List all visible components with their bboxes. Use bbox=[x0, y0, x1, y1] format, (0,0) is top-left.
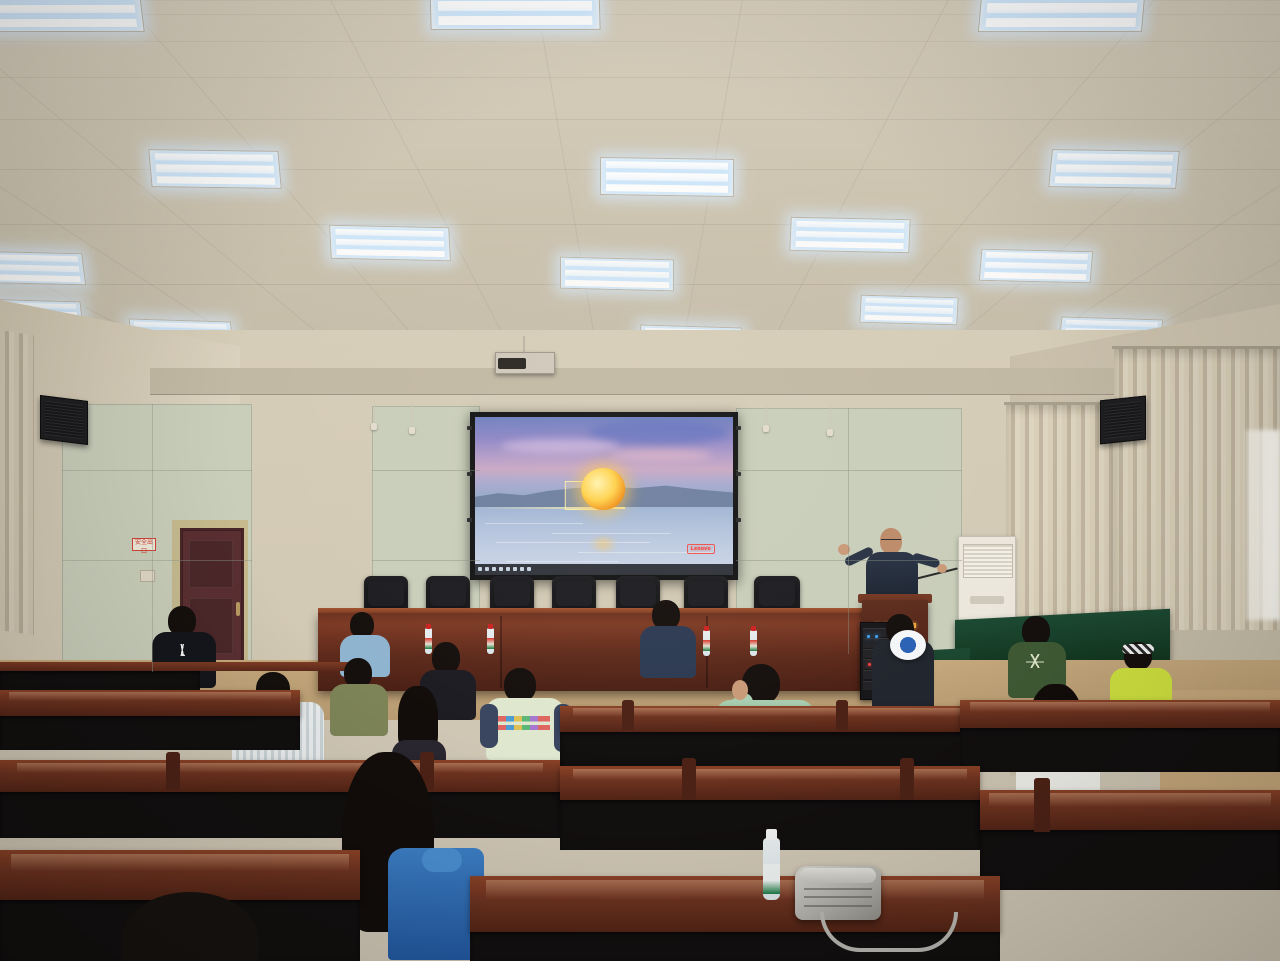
ceiling-light-fixture bbox=[1048, 149, 1180, 189]
tee-graphic-icon bbox=[1026, 654, 1044, 668]
hanging-cable-right bbox=[412, 402, 413, 428]
bench-arm-r4a bbox=[622, 700, 634, 730]
wall-speaker-left bbox=[40, 395, 88, 445]
water-bottle-foreground[interactable] bbox=[763, 838, 780, 900]
ceiling-light-fixture bbox=[979, 249, 1093, 284]
wallpaper-orb bbox=[581, 468, 625, 511]
mint-sleeve-left bbox=[480, 704, 498, 748]
ceiling-light-fixture bbox=[600, 157, 734, 197]
bench-seat-row5 bbox=[960, 728, 1280, 772]
ceiling-light-fixture bbox=[329, 225, 451, 261]
bench-seat-row8-right bbox=[980, 830, 1280, 890]
wall-panel-seam bbox=[372, 470, 480, 471]
lenovo-watermark: Lenovo bbox=[687, 544, 715, 554]
window-daylight bbox=[1246, 430, 1280, 620]
hanging-spot-far2 bbox=[827, 429, 833, 436]
presenter-torso bbox=[866, 552, 918, 598]
ceiling-grid-line bbox=[0, 119, 1280, 120]
hanging-cable-left bbox=[374, 402, 375, 424]
ceiling-light-fixture bbox=[0, 251, 86, 286]
dais-bottle-2 bbox=[487, 628, 494, 654]
projection-screen: Lenovo bbox=[470, 412, 738, 580]
sage-hand bbox=[732, 680, 748, 700]
tee-print-icon bbox=[498, 712, 550, 734]
ceiling-light-fixture bbox=[560, 257, 674, 292]
bench-desk-row7 bbox=[560, 766, 980, 800]
hanging-spot-far bbox=[763, 425, 769, 432]
bench-seat-row4 bbox=[560, 732, 980, 770]
bench-seat-row3 bbox=[0, 716, 300, 750]
dais-bottle-4 bbox=[750, 630, 757, 656]
ceiling-soffit bbox=[150, 368, 1150, 395]
projector-lens-icon bbox=[498, 358, 526, 369]
bench-rail-far bbox=[0, 662, 360, 671]
right-curtain-near bbox=[1006, 404, 1114, 632]
ceiling-light-fixture bbox=[789, 217, 910, 253]
hanging-cable-far2 bbox=[830, 404, 831, 430]
dais-bottle-1 bbox=[425, 628, 432, 654]
door-handle-icon[interactable] bbox=[236, 602, 240, 616]
ceiling-light-fixture bbox=[0, 0, 145, 32]
dais-bottle-3 bbox=[703, 630, 710, 656]
bench-arm-r7a bbox=[682, 758, 696, 800]
bench-desk-row8-right bbox=[980, 790, 1280, 830]
bench-arm-r4b bbox=[836, 700, 848, 730]
left-window-curtain bbox=[0, 330, 34, 635]
bench-arm-r7b bbox=[900, 758, 914, 800]
bench-arm-r8 bbox=[1034, 778, 1050, 832]
backpack-strap bbox=[820, 912, 958, 952]
wall-speaker-right bbox=[1100, 396, 1146, 445]
presenter-glasses-icon bbox=[881, 539, 901, 544]
hanging-spot-right bbox=[409, 427, 415, 434]
bench-desk-row5 bbox=[960, 700, 1280, 728]
wall-panel-seam bbox=[848, 408, 849, 654]
headband bbox=[1122, 644, 1154, 654]
wall-panel-seam bbox=[62, 560, 252, 561]
hanging-spot-left bbox=[371, 423, 377, 430]
adidas-logo-icon bbox=[172, 644, 194, 656]
ceiling-light-fixture bbox=[978, 0, 1146, 32]
windows-taskbar[interactable] bbox=[475, 564, 733, 575]
ceiling-grid-line bbox=[0, 41, 1280, 42]
wall-panel-seam bbox=[62, 470, 252, 471]
wall-panel-seam bbox=[152, 404, 153, 672]
screen-content: Lenovo bbox=[475, 417, 733, 575]
hanging-cable-far bbox=[766, 404, 767, 426]
presenter-right-hand bbox=[937, 564, 947, 573]
wallpaper-orb-reflection bbox=[584, 537, 623, 551]
white-cap bbox=[890, 630, 926, 660]
blue-dress-shoulder bbox=[422, 848, 462, 872]
ceiling-light-fixture bbox=[148, 149, 282, 189]
projector-mount-rod bbox=[523, 336, 525, 352]
wall-panel-seam bbox=[736, 560, 962, 561]
bench-desk-row6 bbox=[0, 760, 560, 792]
bench-desk-row3 bbox=[0, 690, 300, 716]
curtain-rod-far bbox=[1112, 346, 1280, 349]
wall-panel-seam bbox=[372, 560, 480, 561]
bench-arm-r6a bbox=[166, 752, 180, 790]
ceiling-light-fixture bbox=[429, 0, 600, 30]
dais-seam-1 bbox=[500, 616, 502, 688]
lecture-hall-photo: 安全出口 Lenovo bbox=[0, 0, 1280, 961]
bench-seat-row6 bbox=[0, 792, 560, 838]
wall-panel-seam bbox=[736, 470, 962, 471]
ceiling-light-fixture bbox=[859, 295, 958, 326]
dais-table bbox=[318, 613, 876, 691]
